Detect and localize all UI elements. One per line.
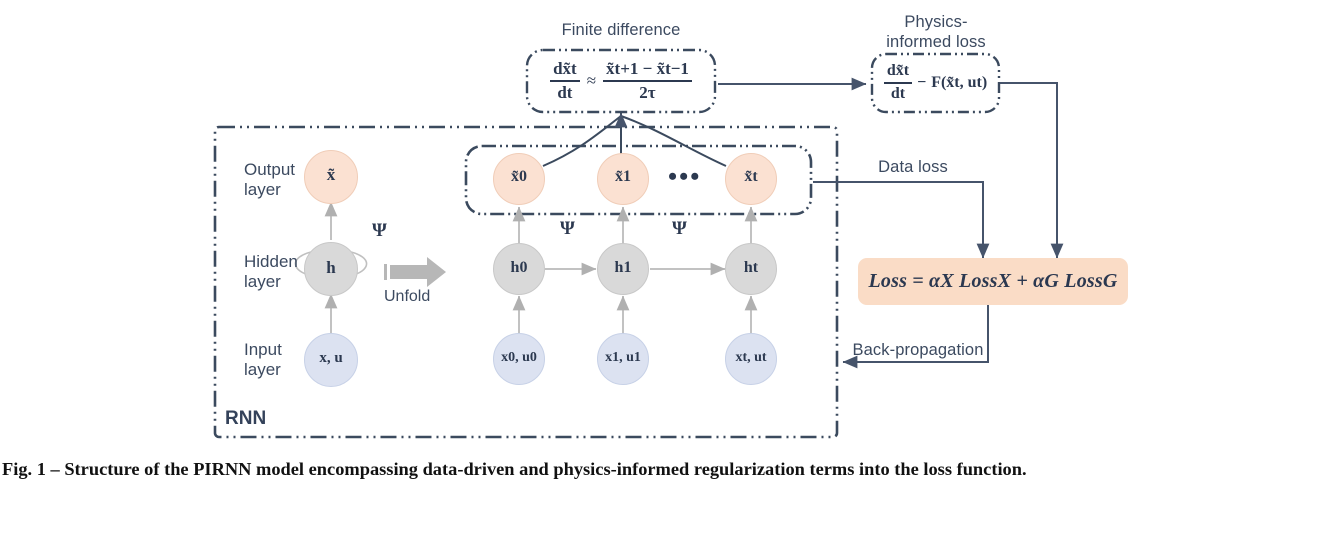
unfold-label: Unfold — [384, 288, 430, 306]
total-loss-equation: Loss = αX LossX + αG LossG — [868, 270, 1117, 293]
node-input-folded-label: x, u — [305, 350, 357, 367]
output-layer-label-line2: layer — [244, 180, 295, 200]
node-output-1-label: x̃1 — [598, 168, 648, 186]
pl-residual-term: F(x̃t, ut) — [931, 74, 987, 92]
pl-lhs-denominator: dt — [888, 86, 908, 103]
node-hidden-0-label: h0 — [494, 259, 544, 277]
fd-rhs-fraction: x̃t+1 − x̃t−1 2τ — [603, 60, 692, 102]
node-hidden-1: h1 — [597, 243, 649, 295]
fd-rhs-denominator: 2τ — [636, 84, 658, 102]
back-propagation-label: Back-propagation — [838, 340, 998, 360]
hidden-layer-label-line2: layer — [244, 272, 298, 292]
fd-rhs-bar — [603, 80, 692, 82]
node-output-folded: x̃ — [304, 150, 358, 204]
node-output-t: x̃t — [725, 153, 777, 205]
physics-loss-equation: dx̃t dt − F(x̃t, ut) — [872, 54, 999, 112]
node-input-1-label: x1, u1 — [598, 350, 648, 366]
output-row-ellipsis: ••• — [668, 162, 701, 192]
node-input-t-label: xt, ut — [726, 350, 776, 366]
figure-caption: Fig. 1 – Structure of the PIRNN model en… — [2, 456, 1318, 482]
arrow-data-loss-to-total-loss — [813, 182, 983, 258]
hidden-layer-label-line1: Hidden — [244, 252, 298, 272]
physics-loss-label-line1: Physics- — [871, 12, 1001, 32]
pl-minus-sign: − — [917, 74, 926, 92]
arrow-physics-loss-to-total-loss — [1000, 83, 1057, 258]
node-hidden-folded-label: h — [305, 258, 357, 278]
node-input-folded: x, u — [304, 333, 358, 387]
input-layer-label-line2: layer — [244, 360, 282, 380]
node-output-folded-label: x̃ — [305, 165, 357, 185]
node-output-t-label: x̃t — [726, 168, 776, 186]
hidden-layer-label: Hidden layer — [244, 252, 298, 293]
fd-approx-sign: ≈ — [587, 71, 596, 91]
recurrent-weight-psi-folded: Ψ — [372, 220, 387, 242]
input-layer-label-line1: Input — [244, 340, 282, 360]
figure-pirnn-structure: Output layer Hidden layer Input layer x̃… — [0, 0, 1322, 536]
node-hidden-t: ht — [725, 243, 777, 295]
node-hidden-0: h0 — [493, 243, 545, 295]
fd-rhs-numerator: x̃t+1 − x̃t−1 — [603, 60, 692, 78]
node-output-1: x̃1 — [597, 153, 649, 205]
fd-lhs-bar — [550, 80, 580, 82]
rnn-container-label: RNN — [225, 408, 266, 430]
node-hidden-1-label: h1 — [598, 259, 648, 277]
fd-lhs-fraction: dx̃t dt — [550, 60, 580, 102]
weight-psi-0: Ψ — [560, 218, 575, 240]
node-hidden-folded: h — [304, 242, 358, 296]
pl-lhs-fraction: dx̃t dt — [884, 63, 912, 103]
node-input-t: xt, ut — [725, 333, 777, 385]
weight-psi-1: Ψ — [672, 218, 687, 240]
node-output-0: x̃0 — [493, 153, 545, 205]
finite-difference-label: Finite difference — [521, 20, 721, 40]
finite-difference-equation: dx̃t dt ≈ x̃t+1 − x̃t−1 2τ — [527, 50, 715, 112]
physics-informed-loss-label: Physics- informed loss — [871, 12, 1001, 52]
fd-lhs-denominator: dt — [554, 84, 575, 102]
unfold-block-arrow — [384, 257, 446, 287]
output-layer-label: Output layer — [244, 160, 295, 201]
data-loss-label: Data loss — [848, 157, 978, 177]
output-layer-label-line1: Output — [244, 160, 295, 180]
node-input-0: x0, u0 — [493, 333, 545, 385]
node-input-1: x1, u1 — [597, 333, 649, 385]
node-input-0-label: x0, u0 — [494, 350, 544, 366]
fd-lhs-numerator: dx̃t — [550, 60, 580, 78]
physics-loss-label-line2: informed loss — [871, 32, 1001, 52]
input-layer-label: Input layer — [244, 340, 282, 381]
pl-lhs-numerator: dx̃t — [884, 63, 912, 80]
total-loss-box: Loss = αX LossX + αG LossG — [858, 258, 1128, 305]
pl-lhs-bar — [884, 82, 912, 84]
node-hidden-t-label: ht — [726, 259, 776, 277]
node-output-0-label: x̃0 — [494, 168, 544, 186]
